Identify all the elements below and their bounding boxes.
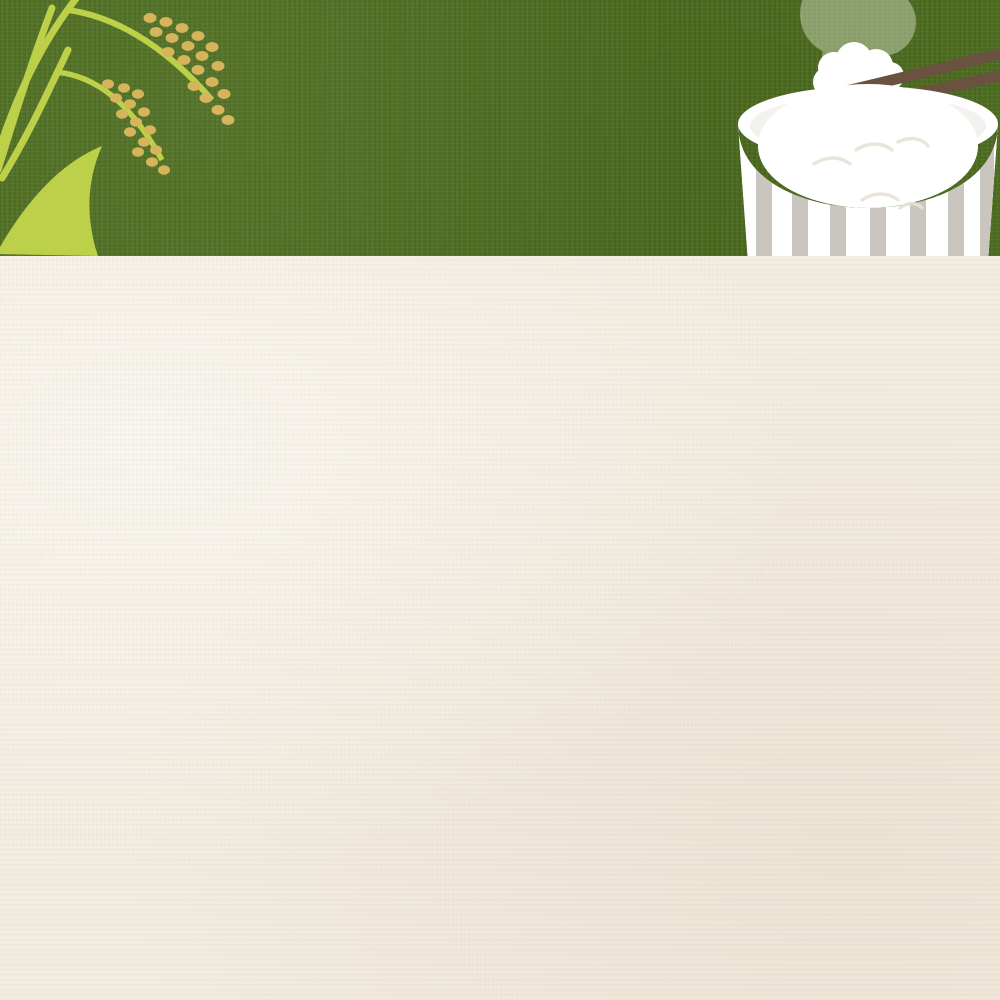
rice-plant-icon: [0, 0, 260, 256]
rice-bowl-icon: [730, 0, 1000, 256]
notice-page: [0, 0, 1000, 1000]
header-banner: [0, 0, 1000, 256]
notice-body: [0, 256, 1000, 1000]
paper-texture-overlay: [0, 256, 1000, 1000]
